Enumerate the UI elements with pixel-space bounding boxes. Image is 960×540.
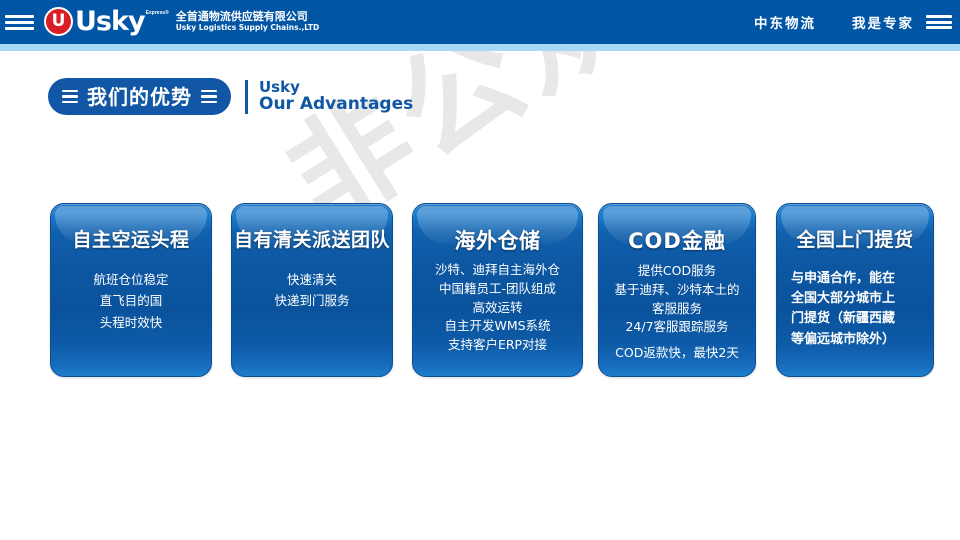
nav-item-middle-east-logistics[interactable]: 中东物流 bbox=[754, 12, 816, 32]
card-body-line: 与申通合作，能在 bbox=[791, 269, 919, 289]
card-body-line: 客服服务 bbox=[605, 300, 749, 319]
card-body-line: 支持客户ERP对接 bbox=[419, 336, 576, 355]
company-name-en: Usky Logistics Supply Chains.,LTD bbox=[176, 23, 319, 32]
nav-item-i-am-expert[interactable]: 我是专家 bbox=[852, 12, 914, 32]
advantage-card[interactable]: 自主空运头程 航班仓位稳定直飞目的国头程时效快 bbox=[50, 203, 212, 377]
card-body-line: 等偏远城市除外） bbox=[791, 330, 919, 350]
logo-mark-icon: U bbox=[44, 7, 73, 36]
card-body-line: 航班仓位稳定 bbox=[57, 269, 205, 291]
hamburger-menu-icon-right[interactable] bbox=[926, 15, 952, 29]
card-body-line: 全国大部分城市上 bbox=[791, 289, 919, 309]
section-pill-label: 我们的优势 bbox=[87, 87, 192, 107]
card-body-line: 沙特、迪拜自主海外仓 bbox=[419, 261, 576, 280]
card-body-line: 24/7客服跟踪服务 bbox=[605, 318, 749, 337]
advantage-card[interactable]: 全国上门提货 与申通合作，能在全国大部分城市上门提货（新疆西藏等偏远城市除外） bbox=[776, 203, 934, 377]
card-body: 沙特、迪拜自主海外仓中国籍员工-团队组成高效运转自主开发WMS系统支持客户ERP… bbox=[413, 261, 582, 355]
section-en-line1: Usky bbox=[259, 79, 413, 96]
hamburger-lines-icon-right bbox=[201, 90, 217, 104]
card-body-line: 快速清关 bbox=[238, 269, 386, 291]
card-body-line: 高效运转 bbox=[419, 299, 576, 318]
card-body-line: 提供COD服务 bbox=[605, 262, 749, 281]
slide-canvas: 非公众水印 U Usky Express® 全首通物流供应链有限公司 Usky … bbox=[0, 0, 960, 540]
section-heading: 我们的优势 Usky Our Advantages bbox=[48, 78, 413, 115]
card-title: 全国上门提货 bbox=[777, 230, 933, 251]
advantage-card-list: 自主空运头程 航班仓位稳定直飞目的国头程时效快 自有清关派送团队 快速清关快递到… bbox=[0, 203, 960, 377]
section-divider bbox=[245, 80, 248, 114]
card-body: 快速清关快递到门服务 bbox=[232, 269, 392, 312]
card-body-line: 直飞目的国 bbox=[57, 290, 205, 312]
card-body: 与申通合作，能在全国大部分城市上门提货（新疆西藏等偏远城市除外） bbox=[777, 269, 933, 350]
card-body-line: 自主开发WMS系统 bbox=[419, 317, 576, 336]
card-title: 自主空运头程 bbox=[51, 230, 211, 251]
card-title: 自有清关派送团队 bbox=[232, 230, 392, 251]
hamburger-menu-icon[interactable] bbox=[5, 15, 34, 30]
card-body-line bbox=[605, 337, 749, 344]
card-title: 海外仓储 bbox=[413, 230, 582, 253]
advantage-card[interactable]: 海外仓储 沙特、迪拜自主海外仓中国籍员工-团队组成高效运转自主开发WMS系统支持… bbox=[412, 203, 583, 377]
logo-superscript: Express® bbox=[146, 10, 169, 16]
hamburger-lines-icon-left bbox=[62, 90, 78, 104]
company-name-block: 全首通物流供应链有限公司 Usky Logistics Supply Chain… bbox=[176, 11, 319, 33]
card-body: 航班仓位稳定直飞目的国头程时效快 bbox=[51, 269, 211, 334]
section-pill-badge: 我们的优势 bbox=[48, 78, 231, 115]
advantage-card[interactable]: 自有清关派送团队 快速清关快递到门服务 bbox=[231, 203, 393, 377]
company-name-cn: 全首通物流供应链有限公司 bbox=[176, 11, 319, 24]
card-title: COD金融 bbox=[599, 230, 755, 253]
site-header: U Usky Express® 全首通物流供应链有限公司 Usky Logist… bbox=[0, 0, 960, 44]
card-body-line: COD返款快，最快2天 bbox=[605, 344, 749, 363]
section-en-title: Usky Our Advantages bbox=[259, 79, 413, 115]
header-accent-strip bbox=[0, 44, 960, 51]
primary-nav: 中东物流 我是专家 bbox=[754, 0, 914, 44]
brand-logo[interactable]: U Usky Express® 全首通物流供应链有限公司 Usky Logist… bbox=[44, 7, 319, 36]
card-body-line: 中国籍员工-团队组成 bbox=[419, 280, 576, 299]
section-en-line2: Our Advantages bbox=[259, 95, 413, 114]
advantage-card[interactable]: COD金融 提供COD服务基于迪拜、沙特本土的客服服务24/7客服跟踪服务COD… bbox=[598, 203, 756, 377]
logo-wordmark: Usky bbox=[75, 8, 145, 35]
card-body-line: 基于迪拜、沙特本土的 bbox=[605, 281, 749, 300]
card-body-line: 快递到门服务 bbox=[238, 290, 386, 312]
card-body-line: 门提货（新疆西藏 bbox=[791, 309, 919, 329]
card-body-line: 头程时效快 bbox=[57, 312, 205, 334]
card-body: 提供COD服务基于迪拜、沙特本土的客服服务24/7客服跟踪服务COD返款快，最快… bbox=[599, 262, 755, 363]
